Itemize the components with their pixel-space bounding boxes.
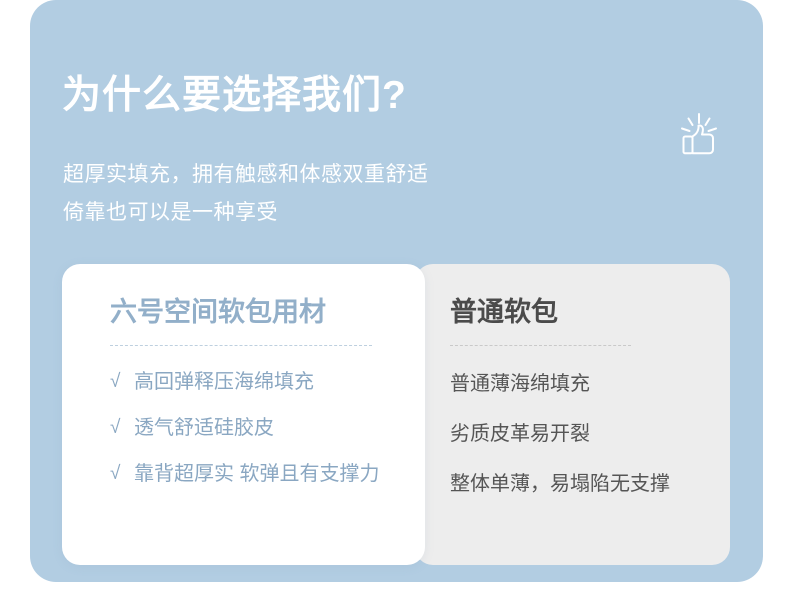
list-item: √ 靠背超厚实 软弹且有支撑力: [110, 460, 425, 488]
promo-comparison-banner: 为什么要选择我们? 超厚实填充，拥有触感和体感双重舒适 倚靠也可以是一种享受 普: [0, 0, 790, 595]
comparison-card-ordinary-list: 普通薄海绵填充 劣质皮革易开裂 整体单薄，易塌陷无支撑: [450, 370, 730, 498]
page-title: 为什么要选择我们?: [62, 74, 407, 118]
list-item: √ 高回弹释压海绵填充: [110, 368, 425, 396]
divider: [110, 345, 372, 346]
check-icon: √: [110, 460, 134, 488]
comparison-card-ordinary: 普通软包 普通薄海绵填充 劣质皮革易开裂 整体单薄，易塌陷无支撑: [415, 264, 730, 565]
list-item: 普通薄海绵填充: [450, 370, 730, 398]
hero-subtitle: 超厚实填充，拥有触感和体感双重舒适 倚靠也可以是一种享受: [63, 156, 429, 232]
list-item: 整体单薄，易塌陷无支撑: [450, 470, 730, 498]
list-item: 劣质皮革易开裂: [450, 420, 730, 448]
check-icon: √: [110, 414, 134, 442]
list-item-label: 透气舒适硅胶皮: [134, 414, 402, 442]
thumbs-up-icon: [670, 110, 726, 166]
comparison-card-ours-title: 六号空间软包用材: [110, 296, 425, 328]
divider: [450, 345, 631, 346]
comparison-card-ours-list: √ 高回弹释压海绵填充 √ 透气舒适硅胶皮 √ 靠背超厚实 软弹且有支撑力: [110, 368, 425, 488]
comparison-card-ours: 六号空间软包用材 √ 高回弹释压海绵填充 √ 透气舒适硅胶皮 √ 靠背超厚实 软…: [62, 264, 425, 565]
check-icon: √: [110, 368, 134, 396]
list-item-label: 靠背超厚实 软弹且有支撑力: [134, 460, 402, 488]
hero-subtitle-line-2: 倚靠也可以是一种享受: [63, 194, 429, 232]
list-item: √ 透气舒适硅胶皮: [110, 414, 425, 442]
list-item-label: 高回弹释压海绵填充: [134, 368, 402, 396]
hero-subtitle-line-1: 超厚实填充，拥有触感和体感双重舒适: [63, 156, 429, 194]
list-item-label: 整体单薄，易塌陷无支撑: [450, 470, 710, 498]
list-item-label: 普通薄海绵填充: [450, 370, 710, 398]
list-item-label: 劣质皮革易开裂: [450, 420, 710, 448]
comparison-card-ordinary-title: 普通软包: [450, 296, 730, 328]
